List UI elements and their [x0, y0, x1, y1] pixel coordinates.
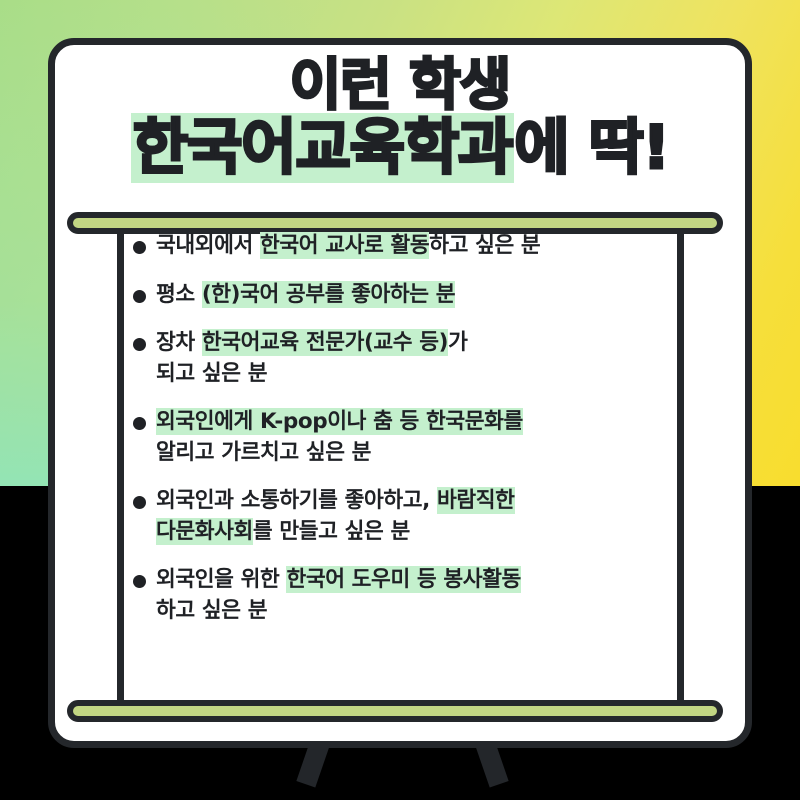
plain-text: 하고 싶은 분: [429, 233, 540, 258]
board-frame-left: [117, 231, 124, 703]
criteria-list: 국내외에서 한국어 교사로 활동하고 싶은 분평소 (한)국어 공부를 좋아하는…: [133, 231, 673, 644]
title-line-1: 이런 학생: [55, 58, 745, 118]
plain-text: 평소: [156, 282, 202, 307]
list-item-line: 장차 한국어교육 전문가(교수 등)가: [156, 328, 467, 359]
bullet-dot-icon: [133, 338, 146, 351]
highlighted-text: 외국인에게 K-pop이나 춤 등 한국문화를: [156, 408, 523, 435]
bullet-dot-icon: [133, 417, 146, 430]
highlighted-text: 한국어 도우미 등 봉사활동: [286, 566, 520, 593]
plain-text: 하고 싶은 분: [156, 598, 267, 623]
title-highlight-text: 한국어교육학과: [131, 113, 514, 183]
board-rail-bottom: [67, 700, 723, 722]
poster-card: 이런 학생 한국어교육학과에 딱! 국내외에서 한국어 교사로 활동하고 싶은 …: [48, 38, 752, 748]
plain-text: 알리고 가르치고 싶은 분: [156, 440, 371, 465]
highlighted-text: 다문화사회: [156, 518, 253, 545]
list-item: 외국인에게 K-pop이나 춤 등 한국문화를알리고 가르치고 싶은 분: [133, 407, 673, 468]
list-item-line: 외국인에게 K-pop이나 춤 등 한국문화를: [156, 407, 523, 438]
list-item-text: 국내외에서 한국어 교사로 활동하고 싶은 분: [156, 231, 540, 262]
board-frame-right: [677, 231, 684, 703]
list-item-text: 평소 (한)국어 공부를 좋아하는 분: [156, 280, 455, 311]
list-item: 외국인과 소통하기를 좋아하고, 바람직한다문화사회를 만들고 싶은 분: [133, 486, 673, 547]
plain-text: 국내외에서: [156, 233, 260, 258]
bullet-dot-icon: [133, 241, 146, 254]
list-item-text: 장차 한국어교육 전문가(교수 등)가되고 싶은 분: [156, 328, 467, 389]
highlighted-text: 한국어 교사로 활동: [260, 232, 429, 259]
list-item: 평소 (한)국어 공부를 좋아하는 분: [133, 280, 673, 311]
title-line-2: 한국어교육학과에 딱!: [55, 118, 745, 178]
list-item-line: 알리고 가르치고 싶은 분: [156, 438, 523, 469]
highlighted-text: 바람직한: [437, 487, 515, 514]
plain-text: 외국인과 소통하기를 좋아하고,: [156, 488, 437, 513]
list-item: 장차 한국어교육 전문가(교수 등)가되고 싶은 분: [133, 328, 673, 389]
list-item-line: 하고 싶은 분: [156, 596, 521, 627]
list-item-text: 외국인과 소통하기를 좋아하고, 바람직한다문화사회를 만들고 싶은 분: [156, 486, 515, 547]
list-item-line: 평소 (한)국어 공부를 좋아하는 분: [156, 280, 455, 311]
list-item-line: 국내외에서 한국어 교사로 활동하고 싶은 분: [156, 231, 540, 262]
list-item-line: 되고 싶은 분: [156, 359, 467, 390]
list-item: 국내외에서 한국어 교사로 활동하고 싶은 분: [133, 231, 673, 262]
plain-text: 를 만들고 싶은 분: [253, 519, 410, 544]
list-item-line: 다문화사회를 만들고 싶은 분: [156, 517, 515, 548]
highlighted-text: 한국어교육 전문가(교수 등): [202, 329, 448, 356]
plain-text: 장차: [156, 330, 202, 355]
list-item-text: 외국인을 위한 한국어 도우미 등 봉사활동하고 싶은 분: [156, 565, 521, 626]
poster-canvas: 이런 학생 한국어교육학과에 딱! 국내외에서 한국어 교사로 활동하고 싶은 …: [0, 0, 800, 800]
plain-text: 되고 싶은 분: [156, 361, 267, 386]
title-plain-text: 에 딱!: [514, 113, 669, 183]
bullet-dot-icon: [133, 575, 146, 588]
list-item: 외국인을 위한 한국어 도우미 등 봉사활동하고 싶은 분: [133, 565, 673, 626]
list-item-text: 외국인에게 K-pop이나 춤 등 한국문화를알리고 가르치고 싶은 분: [156, 407, 523, 468]
plain-text: 외국인을 위한: [156, 567, 286, 592]
highlighted-text: (한)국어 공부를 좋아하는 분: [202, 281, 455, 308]
poster-title: 이런 학생 한국어교육학과에 딱!: [55, 58, 745, 178]
list-item-line: 외국인과 소통하기를 좋아하고, 바람직한: [156, 486, 515, 517]
bullet-dot-icon: [133, 496, 146, 509]
list-item-line: 외국인을 위한 한국어 도우미 등 봉사활동: [156, 565, 521, 596]
bullet-dot-icon: [133, 290, 146, 303]
plain-text: 가: [448, 330, 467, 355]
